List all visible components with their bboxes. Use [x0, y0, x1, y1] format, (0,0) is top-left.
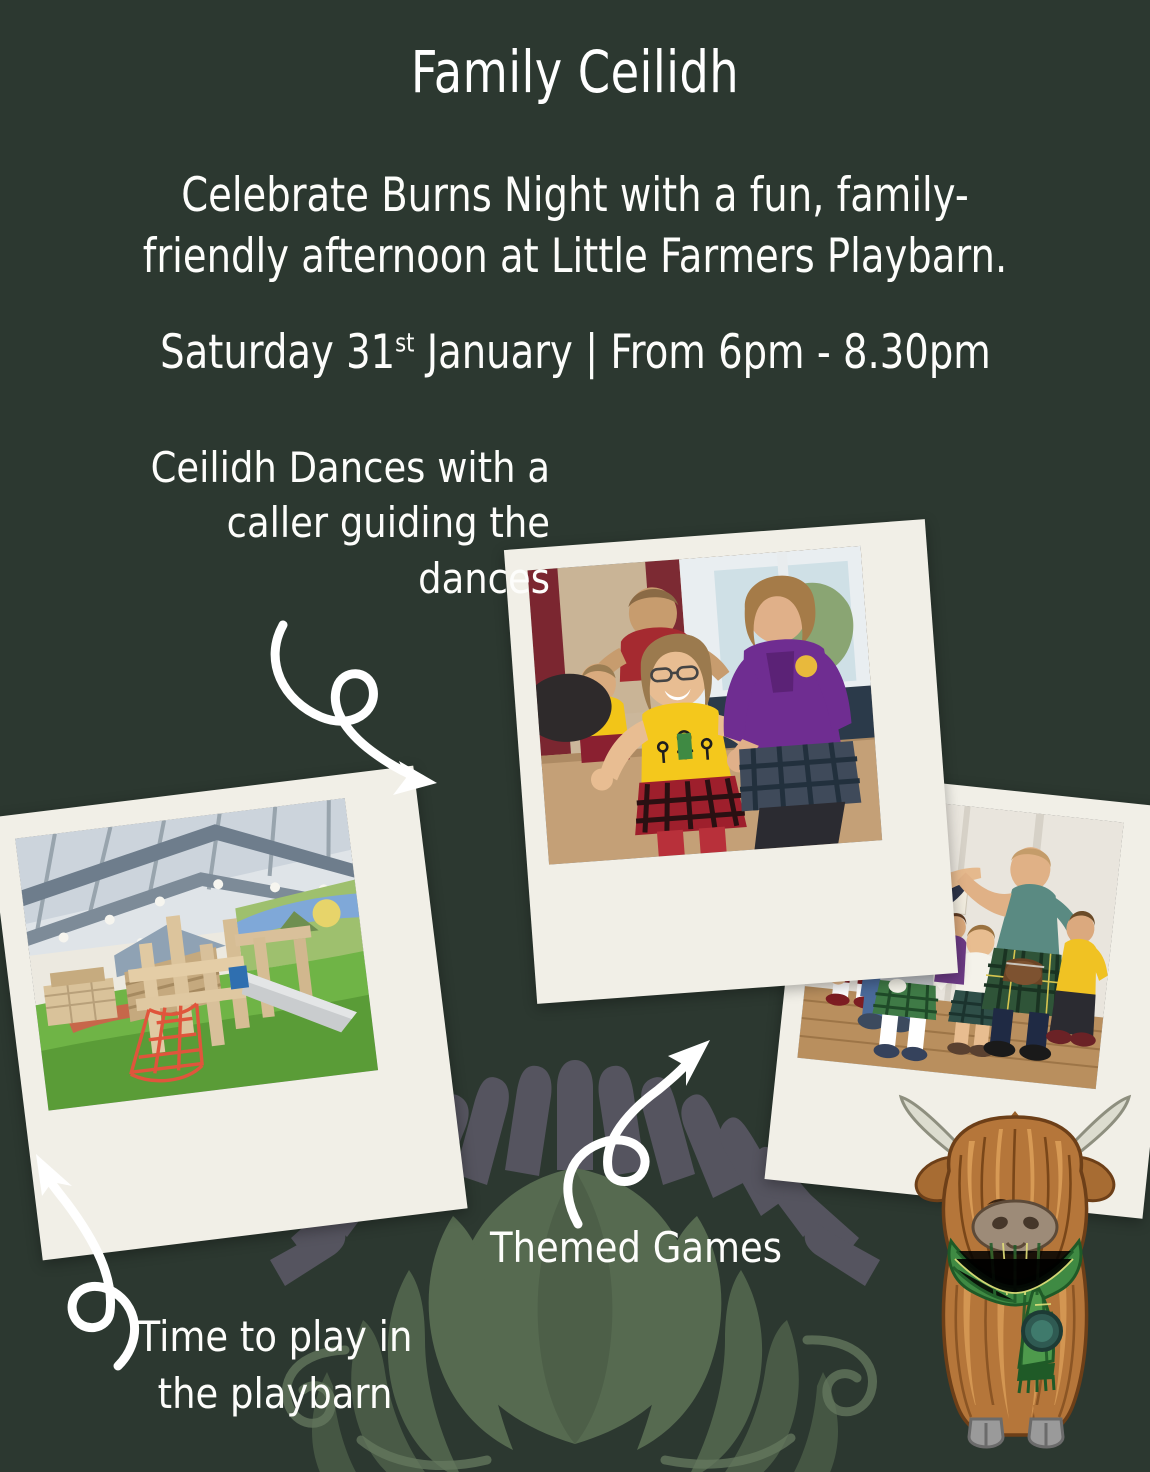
- date-rest: January | From 6pm - 8.30pm: [414, 325, 990, 380]
- caption-dances-line-2: caller guiding the: [101, 495, 550, 550]
- subtitle-line-1: Celebrate Burns Night with a fun, family…: [132, 165, 1018, 226]
- page-title: Family Ceilidh: [115, 38, 1035, 106]
- date-day: Saturday 31: [160, 325, 395, 380]
- caption-ceilidh-dances: Ceilidh Dances with a caller guiding the…: [40, 440, 550, 606]
- caption-play-line-1: Time to play in: [99, 1308, 451, 1365]
- caption-games-line-1: Themed Games: [490, 1223, 782, 1272]
- photo-dance-girl-image: [527, 546, 882, 865]
- date-ordinal: st: [395, 328, 414, 358]
- photo-dance-girl[interactable]: [504, 519, 958, 1004]
- caption-play-line-2: the playbarn: [99, 1365, 451, 1422]
- subtitle-line-2: friendly afternoon at Little Farmers Pla…: [132, 226, 1018, 287]
- caption-dances-line-3: dances: [101, 551, 550, 606]
- event-date-time: Saturday 31st January | From 6pm - 8.30p…: [25, 325, 1125, 380]
- photo-playbarn-image: [15, 798, 378, 1110]
- subtitle: Celebrate Burns Night with a fun, family…: [35, 165, 1115, 287]
- poster-canvas: Family Ceilidh Celebrate Burns Night wit…: [0, 0, 1150, 1472]
- caption-time-to-play: Time to play in the playbarn: [75, 1308, 475, 1422]
- arrow-to-group-photo-icon: [558, 1028, 738, 1228]
- caption-dances-line-1: Ceilidh Dances with a: [101, 440, 550, 495]
- photo-playbarn[interactable]: [0, 766, 468, 1261]
- caption-themed-games: Themed Games: [490, 1223, 822, 1272]
- highland-cow-icon: [895, 1075, 1135, 1450]
